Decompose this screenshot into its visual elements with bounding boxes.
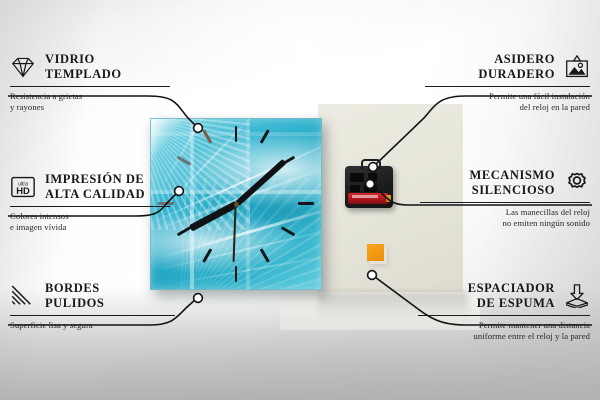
callout-header: VIDRIO TEMPLADO xyxy=(10,52,170,83)
mechanism-battery xyxy=(348,193,388,204)
callout-subtitle: Las manecillas del reloj no emiten ningú… xyxy=(420,207,590,230)
polished-edges-icon xyxy=(10,284,36,308)
callout-impresion-alta-calidad: ultra HD IMPRESIÓN DE ALTA CALIDAD Color… xyxy=(10,172,170,234)
callout-title-line1: IMPRESIÓN DE xyxy=(45,172,144,186)
callout-rule xyxy=(10,86,170,87)
callout-vidrio-templado: VIDRIO TEMPLADO Resistencia a grietas y … xyxy=(10,52,170,114)
callout-title-line2: PULIDOS xyxy=(45,296,104,311)
callout-header: BORDES PULIDOS xyxy=(10,281,175,312)
mechanism-slot xyxy=(350,173,364,182)
callout-mecanismo-silencioso: MECANISMO SILENCIOSO Las manecillas del … xyxy=(420,168,590,230)
callout-subtitle: Superficie lisa y segura xyxy=(10,320,175,332)
callout-sub-line2: e imagen vívida xyxy=(10,222,170,234)
callout-header: ASIDERO DURADERO xyxy=(425,52,590,83)
mechanism-hanger-icon xyxy=(361,159,381,170)
callout-sub-line1: Permite mantener una distancia xyxy=(418,320,590,332)
callout-title: MECANISMO SILENCIOSO xyxy=(469,168,555,199)
callout-title-line1: ASIDERO xyxy=(494,52,555,66)
callout-subtitle: Colores intensos e imagen vívida xyxy=(10,211,170,234)
callout-subtitle: Permite mantener una distancia uniforme … xyxy=(418,320,590,343)
callout-title-line1: VIDRIO xyxy=(45,52,95,66)
wall-clock xyxy=(150,118,322,290)
callout-header: MECANISMO SILENCIOSO xyxy=(420,168,590,199)
clock-mechanism xyxy=(345,166,393,208)
battery-label-stripe xyxy=(352,195,378,198)
callout-rule xyxy=(420,202,590,203)
callout-title-line2: ALTA CALIDAD xyxy=(45,187,145,202)
ultra-hd-icon-main-text: HD xyxy=(16,185,30,196)
callout-rule xyxy=(10,206,170,207)
callout-sub-line2: uniforme entre el reloj y la pared xyxy=(418,331,590,343)
gear-icon xyxy=(564,171,590,195)
product-photo xyxy=(140,104,340,304)
callout-title: IMPRESIÓN DE ALTA CALIDAD xyxy=(45,172,145,203)
callout-title-line2: SILENCIOSO xyxy=(469,183,555,198)
callout-title-line2: DE ESPUMA xyxy=(468,296,555,311)
callout-title-line2: DURADERO xyxy=(478,67,555,82)
battery-positive-cap xyxy=(386,195,391,202)
callout-title: ESPACIADOR DE ESPUMA xyxy=(468,281,555,312)
callout-espaciador-de-espuma: ESPACIADOR DE ESPUMA Permite mantener un… xyxy=(418,281,590,343)
callout-title-line1: MECANISMO xyxy=(469,168,555,182)
callout-title: ASIDERO DURADERO xyxy=(478,52,555,83)
callout-header: ESPACIADOR DE ESPUMA xyxy=(418,281,590,312)
callout-title-line1: BORDES xyxy=(45,281,100,295)
callout-sub-line2: del reloj en la pared xyxy=(425,102,590,114)
callout-title-line2: TEMPLADO xyxy=(45,67,122,82)
hanging-frame-icon xyxy=(564,55,590,79)
callout-rule xyxy=(425,86,590,87)
callout-title: BORDES PULIDOS xyxy=(45,281,104,312)
callout-title-line1: ESPACIADOR xyxy=(468,281,555,295)
callout-sub-line1: Colores intensos xyxy=(10,211,170,223)
infographic-canvas: VIDRIO TEMPLADO Resistencia a grietas y … xyxy=(0,0,600,400)
callout-sub-line2: y rayones xyxy=(10,102,170,114)
callout-subtitle: Permite una fácil instalación del reloj … xyxy=(425,91,590,114)
diamond-icon xyxy=(10,55,36,79)
callout-asidero-duradero: ASIDERO DURADERO Permite una fácil insta… xyxy=(425,52,590,114)
clock-glass-edge xyxy=(150,118,322,290)
mechanism-slot xyxy=(350,185,360,192)
callout-sub-line2: no emiten ningún sonido xyxy=(420,218,590,230)
callout-sub-line1: Superficie lisa y segura xyxy=(10,320,175,332)
callout-header: ultra HD IMPRESIÓN DE ALTA CALIDAD xyxy=(10,172,170,203)
down-arrow-layers-icon xyxy=(564,284,590,308)
ultra-hd-icon: ultra HD xyxy=(10,175,36,199)
callout-rule xyxy=(10,315,175,316)
foam-spacer xyxy=(367,244,384,261)
callout-rule xyxy=(418,315,590,316)
callout-subtitle: Resistencia a grietas y rayones xyxy=(10,91,170,114)
callout-sub-line1: Permite una fácil instalación xyxy=(425,91,590,103)
callout-sub-line1: Resistencia a grietas xyxy=(10,91,170,103)
callout-sub-line1: Las manecillas del reloj xyxy=(420,207,590,219)
callout-title: VIDRIO TEMPLADO xyxy=(45,52,122,83)
callout-bordes-pulidos: BORDES PULIDOS Superficie lisa y segura xyxy=(10,281,175,331)
mechanism-slot xyxy=(368,173,377,182)
mechanism-slot xyxy=(364,185,377,192)
